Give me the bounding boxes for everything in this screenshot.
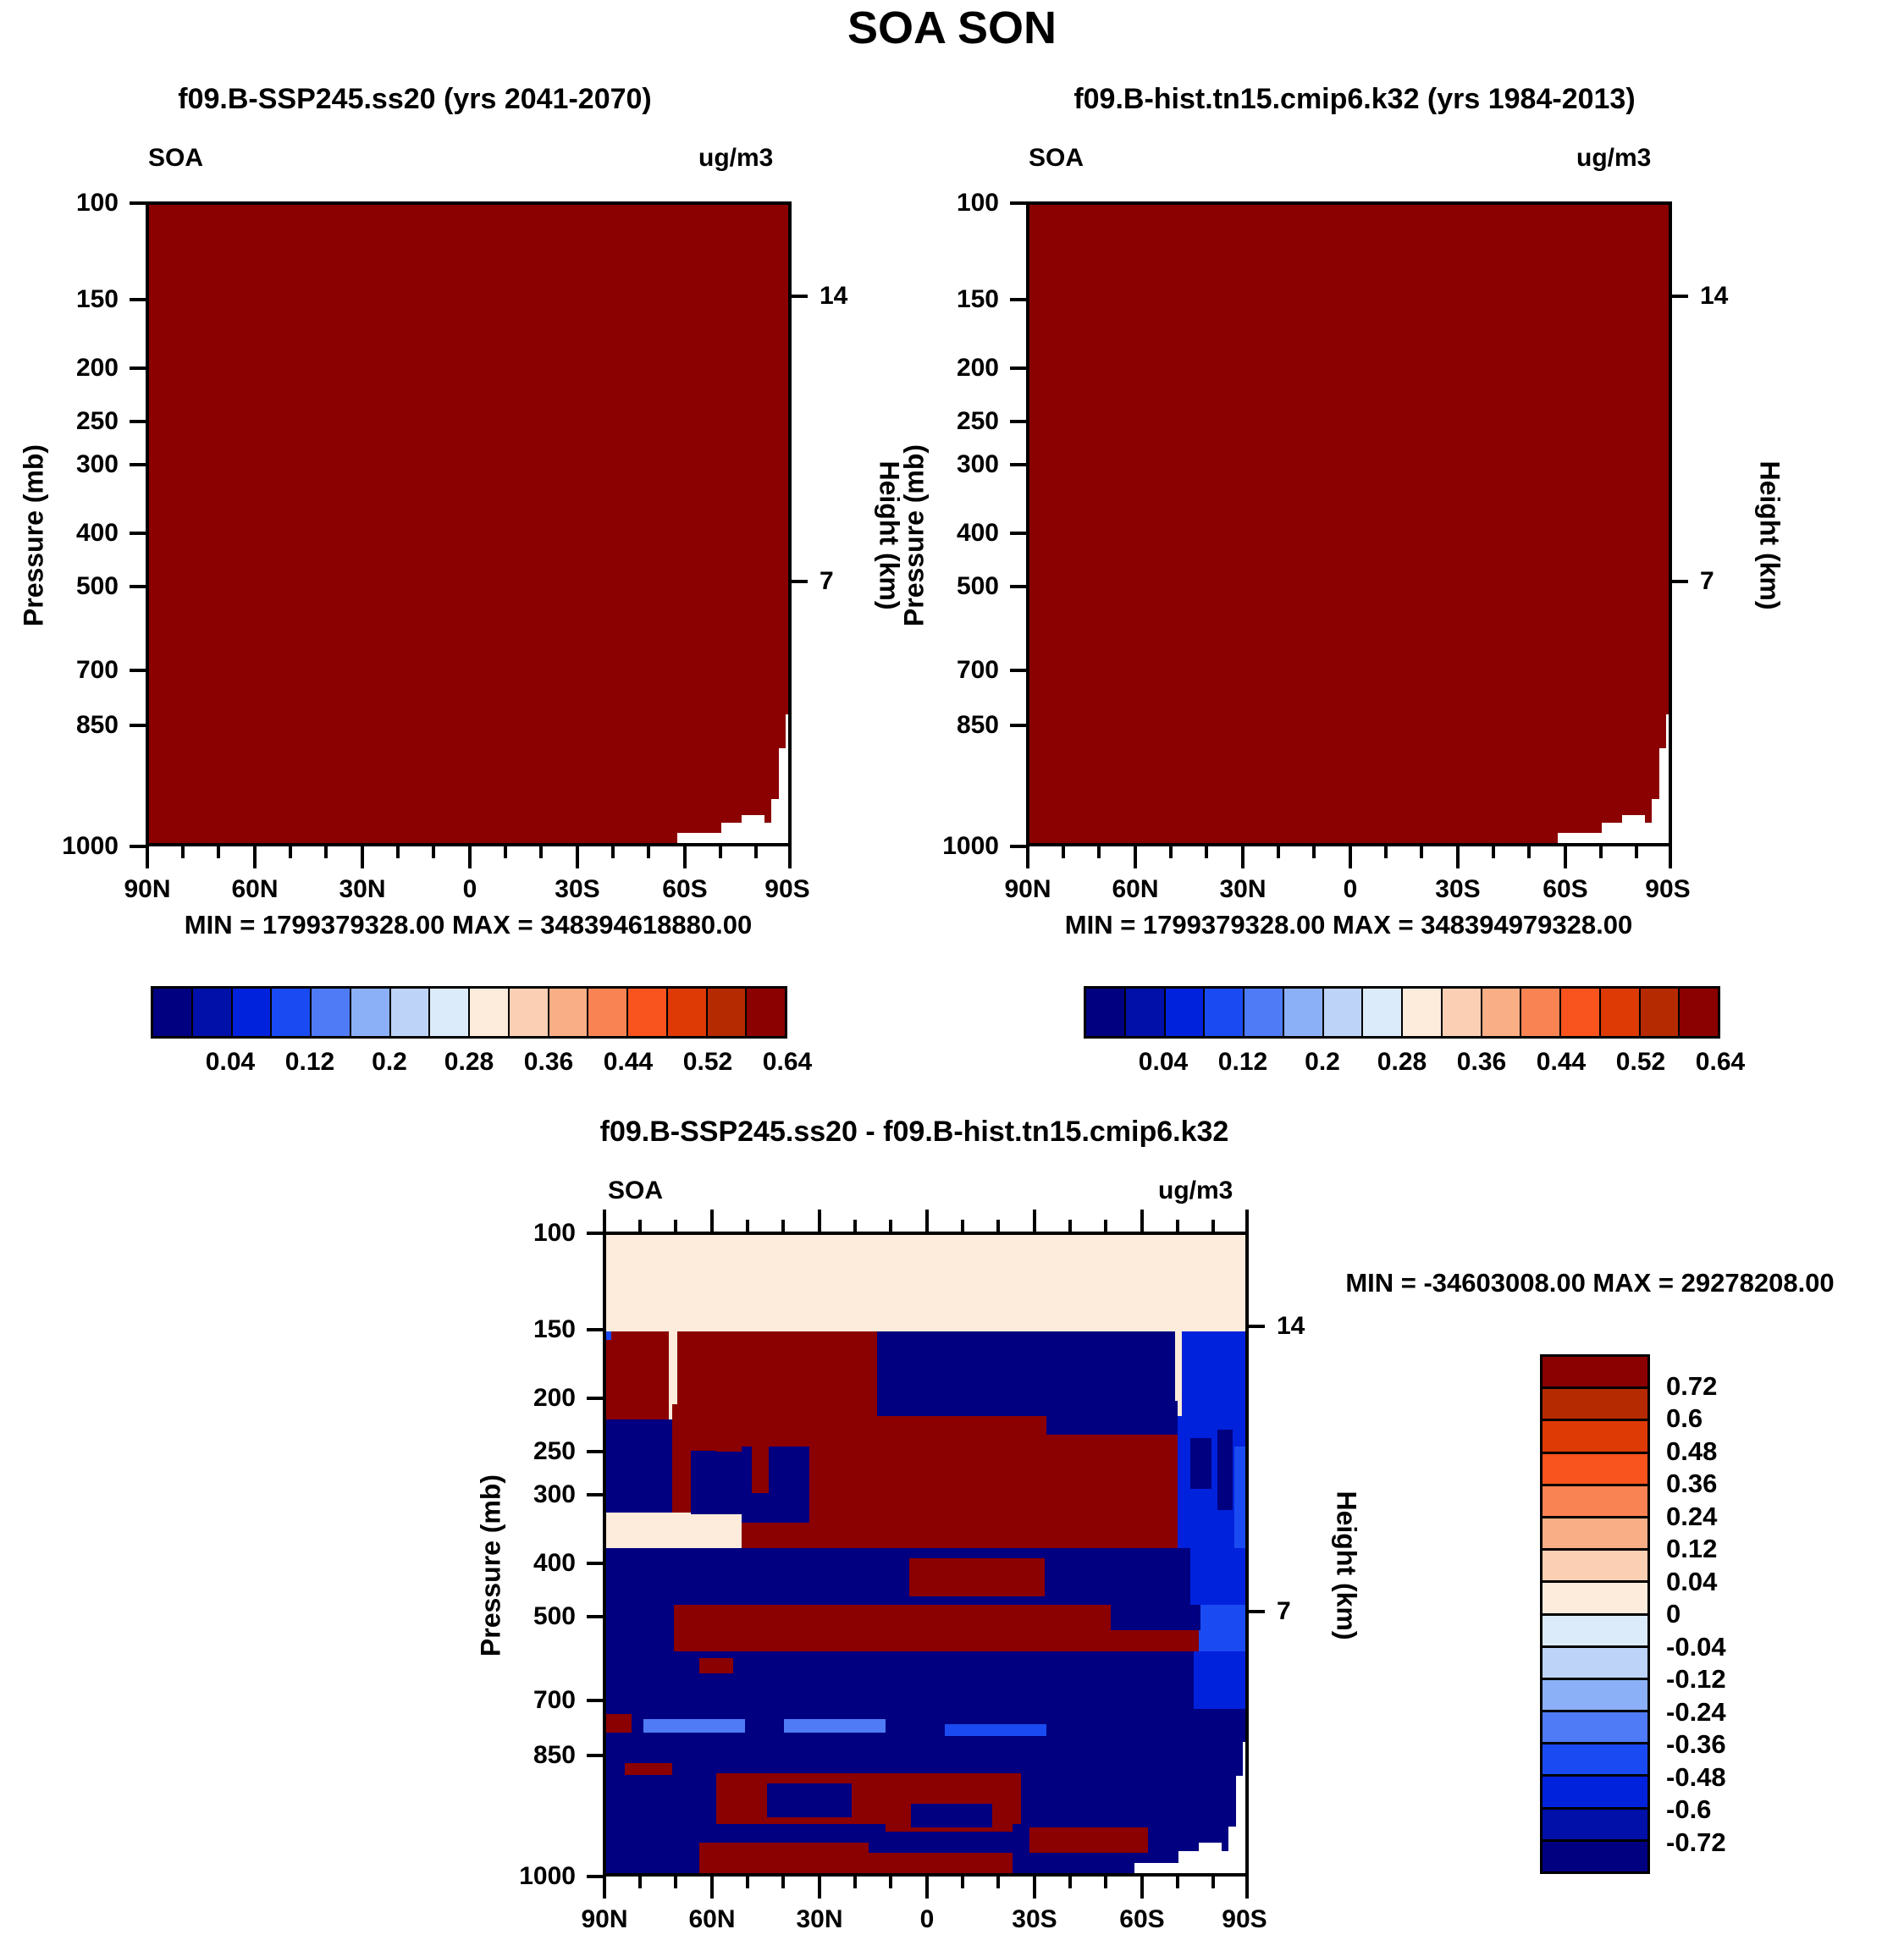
panel-difference-minmax: MIN = -34603008.00 MAX = 29278208.00 (1345, 1268, 1834, 1298)
xtick-0: 0 (920, 1905, 935, 1934)
cbar-cell (1543, 1486, 1647, 1518)
colorbar-difference-labels: 0.72 0.6 0.48 0.36 0.24 0.12 0.04 0 -0.0… (1666, 1354, 1835, 1874)
cbar-cell (1543, 1389, 1647, 1421)
panel-difference-title: f09.B-SSP245.ss20 - f09.B-hist.tn15.cmip… (474, 1116, 1355, 1149)
panel-control-corner-right: ug/m3 (1576, 144, 1651, 173)
panel-difference-height-axis-title: Height (km) (1331, 1456, 1362, 1676)
panel-difference-corner-right: ug/m3 (1158, 1177, 1233, 1205)
xtick-30S: 30S (1012, 1905, 1057, 1934)
ytick-1000: 1000 (491, 1862, 576, 1891)
cbar-cell (193, 989, 233, 1036)
cbar-cell (1601, 989, 1641, 1036)
panel-difference-htick-14 (1249, 1325, 1265, 1328)
ytick-1000: 1000 (34, 832, 119, 861)
cbar-cell (1126, 989, 1166, 1036)
cbar-cell (510, 989, 549, 1036)
xtick-30N: 30N (1219, 875, 1266, 904)
htick-7: 7 (820, 567, 834, 596)
xtick-30S: 30S (1435, 875, 1480, 904)
cbar-cell (153, 989, 193, 1036)
ytick-700: 700 (34, 656, 119, 685)
ytick-700: 700 (914, 656, 999, 685)
xtick-90N: 90N (1004, 875, 1051, 904)
xtick-0: 0 (463, 875, 477, 904)
cbar-cell (1166, 989, 1206, 1036)
panel-control-htick-7 (1672, 580, 1688, 583)
cbar-cell (1443, 989, 1482, 1036)
ytick-850: 850 (34, 711, 119, 740)
colorbar-case (151, 986, 787, 1039)
cbar-cell (1543, 1712, 1647, 1744)
cbar-cell (391, 989, 431, 1036)
cbar-cell (1363, 989, 1403, 1036)
xtick-60S: 60S (662, 875, 707, 904)
xtick-0: 0 (1344, 875, 1358, 904)
panel-control-htick-14 (1672, 295, 1688, 298)
panel-control-title: f09.B-hist.tn15.cmip6.k32 (yrs 1984-2013… (957, 83, 1752, 116)
xtick-90N: 90N (581, 1905, 627, 1934)
panel-case-corner-left: SOA (148, 144, 203, 173)
cbar-cell (588, 989, 628, 1036)
cbar-cell (351, 989, 391, 1036)
cbar-cell (1543, 1551, 1647, 1583)
ytick-850: 850 (914, 711, 999, 740)
cbar-cell (708, 989, 748, 1036)
xtick-90N: 90N (124, 875, 170, 904)
colorbar-case-labels: 0.04 0.12 0.2 0.28 0.36 0.44 0.52 0.64 (151, 1048, 787, 1082)
panel-case-minmax: MIN = 1799379328.00 MAX = 348394618880.0… (185, 910, 752, 940)
panel-control-minmax: MIN = 1799379328.00 MAX = 348394979328.0… (1065, 910, 1632, 940)
panel-difference-htick-7 (1249, 1610, 1265, 1613)
xtick-60S: 60S (1543, 875, 1587, 904)
htick-14: 14 (820, 282, 847, 311)
colorbar-control-labels: 0.04 0.12 0.2 0.28 0.36 0.44 0.52 0.64 (1084, 1048, 1720, 1082)
panel-case-htick-14 (792, 295, 808, 298)
ytick-200: 200 (34, 354, 119, 383)
cbar-cell (312, 989, 351, 1036)
xtick-60S: 60S (1119, 1905, 1164, 1934)
cbar-cell (1543, 1583, 1647, 1615)
ytick-850: 850 (491, 1741, 576, 1770)
colorbar-difference (1540, 1354, 1650, 1874)
cbar-cell (1244, 989, 1284, 1036)
cbar-cell (1543, 1680, 1647, 1712)
cbar-cell (233, 989, 273, 1036)
cbar-cell (1561, 989, 1601, 1036)
cbar-cell (1521, 989, 1561, 1036)
htick-7: 7 (1277, 1597, 1291, 1626)
cbar-cell (1324, 989, 1364, 1036)
panel-difference-corner-left: SOA (608, 1177, 663, 1205)
xtick-60N: 60N (688, 1905, 735, 1934)
panel-difference-pressure-axis-title: Pressure (mb) (476, 1456, 507, 1676)
panel-control-height-axis-title: Height (km) (1754, 426, 1785, 646)
cbar-cell (1543, 1744, 1647, 1777)
cbar-cell (747, 989, 785, 1036)
figure-title: SOA SON (0, 2, 1904, 54)
cbar-cell (1086, 989, 1126, 1036)
cbar-cell (1543, 1421, 1647, 1453)
htick-14: 14 (1277, 1312, 1305, 1341)
panel-case-corner-right: ug/m3 (698, 144, 773, 173)
cbar-cell (1680, 989, 1718, 1036)
cbar-cell (1403, 989, 1443, 1036)
cbar-cell (1543, 1810, 1647, 1842)
panel-control-pressure-axis-title: Pressure (mb) (899, 426, 930, 646)
xtick-60N: 60N (1112, 875, 1158, 904)
cbar-cell (1543, 1648, 1647, 1680)
ytick-1000: 1000 (914, 832, 999, 861)
panel-case-title: f09.B-SSP245.ss20 (yrs 2041-2070) (76, 83, 753, 116)
xtick-30N: 30N (796, 1905, 842, 1934)
cbar-cell (430, 989, 470, 1036)
cbar-cell (272, 989, 312, 1036)
panel-control-plot (1026, 201, 1672, 846)
colorbar-control (1084, 986, 1720, 1039)
ytick-150: 150 (34, 285, 119, 314)
ytick-150: 150 (914, 285, 999, 314)
ytick-100: 100 (491, 1219, 576, 1248)
cbar-cell (1543, 1518, 1647, 1551)
panel-difference-plot (603, 1232, 1249, 1877)
ytick-150: 150 (491, 1315, 576, 1344)
cbar-cell (1543, 1842, 1647, 1871)
cbar-cell (470, 989, 510, 1036)
ytick-200: 200 (914, 354, 999, 383)
xtick-30N: 30N (339, 875, 385, 904)
panel-control-corner-left: SOA (1029, 144, 1084, 173)
ytick-200: 200 (491, 1384, 576, 1413)
panel-case-plot (146, 201, 792, 846)
cbar-cell (1284, 989, 1324, 1036)
panel-case-pressure-axis-title: Pressure (mb) (19, 426, 50, 646)
cbar-cell (1543, 1454, 1647, 1486)
xtick-90S: 90S (1222, 1905, 1267, 1934)
ytick-700: 700 (491, 1686, 576, 1715)
xtick-60N: 60N (231, 875, 278, 904)
xtick-30S: 30S (555, 875, 599, 904)
htick-14: 14 (1700, 282, 1728, 311)
cbar-cell (1543, 1777, 1647, 1809)
cbar-cell (549, 989, 589, 1036)
cbar-cell (1205, 989, 1244, 1036)
cbar-cell (1641, 989, 1680, 1036)
cbar-cell (628, 989, 668, 1036)
panel-case-htick-7 (792, 580, 808, 583)
ytick-100: 100 (914, 189, 999, 218)
cbar-cell (668, 989, 708, 1036)
htick-7: 7 (1700, 567, 1714, 596)
cbar-cell (1543, 1616, 1647, 1648)
xtick-90S: 90S (764, 875, 809, 904)
cbar-cell (1543, 1357, 1647, 1389)
cbar-cell (1482, 989, 1522, 1036)
xtick-90S: 90S (1645, 875, 1690, 904)
ytick-100: 100 (34, 189, 119, 218)
